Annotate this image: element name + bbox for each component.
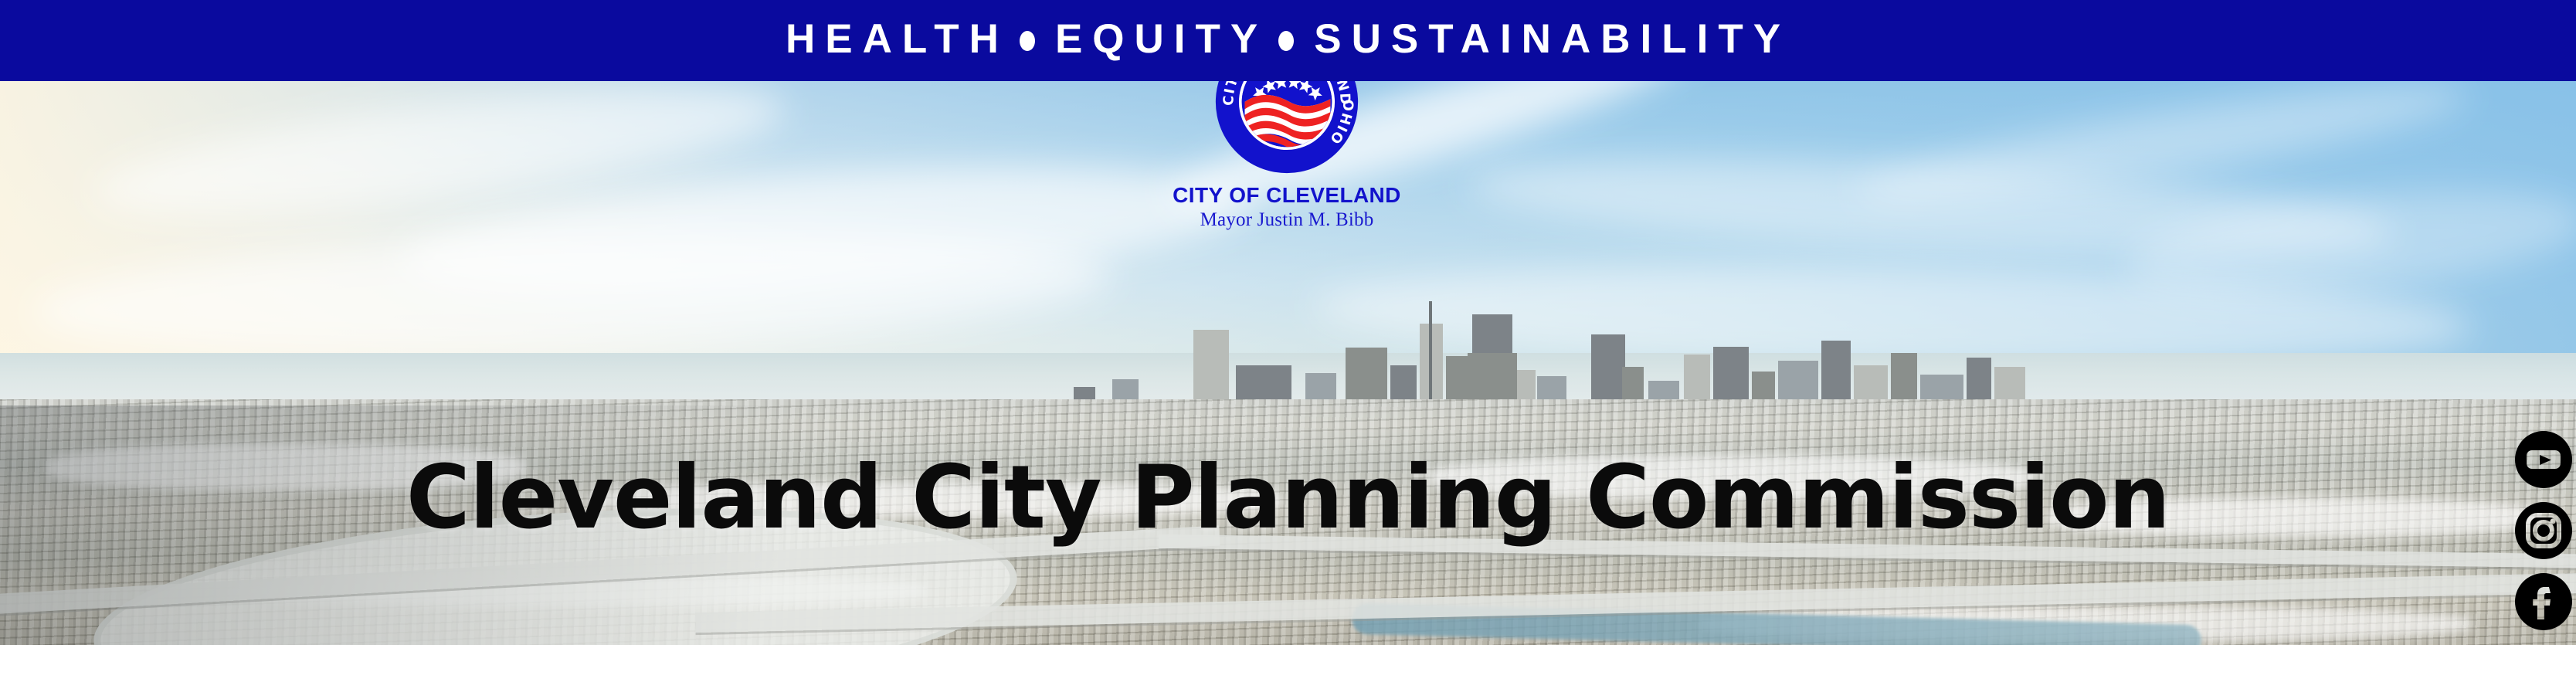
- page-title: Cleveland City Planning Commission: [0, 454, 2576, 541]
- mayor-name: Mayor Justin M. Bibb: [1120, 210, 1454, 230]
- footer-whitespace: [0, 645, 2576, 682]
- tagline-word-sustainability: SUSTAINABILITY: [1314, 16, 1790, 62]
- instagram-icon[interactable]: [2515, 502, 2572, 559]
- tagline-bar: HEALTHEQUITYSUSTAINABILITY: [0, 0, 2576, 81]
- tagline-word-equity: EQUITY: [1055, 16, 1268, 62]
- youtube-icon[interactable]: [2515, 431, 2572, 488]
- facebook-icon[interactable]: [2515, 573, 2572, 630]
- tagline-separator-dot-2: [1278, 31, 1294, 51]
- organization-name: CITY OF CLEVELAND: [1120, 184, 1454, 206]
- tagline-separator-dot-1: [1020, 31, 1035, 51]
- tagline-word-health: HEALTH: [786, 16, 1009, 62]
- social-links: [2514, 431, 2573, 630]
- banner-page: HEALTHEQUITYSUSTAINABILITY: [0, 0, 2576, 682]
- tagline-text: HEALTHEQUITYSUSTAINABILITY: [786, 19, 1790, 59]
